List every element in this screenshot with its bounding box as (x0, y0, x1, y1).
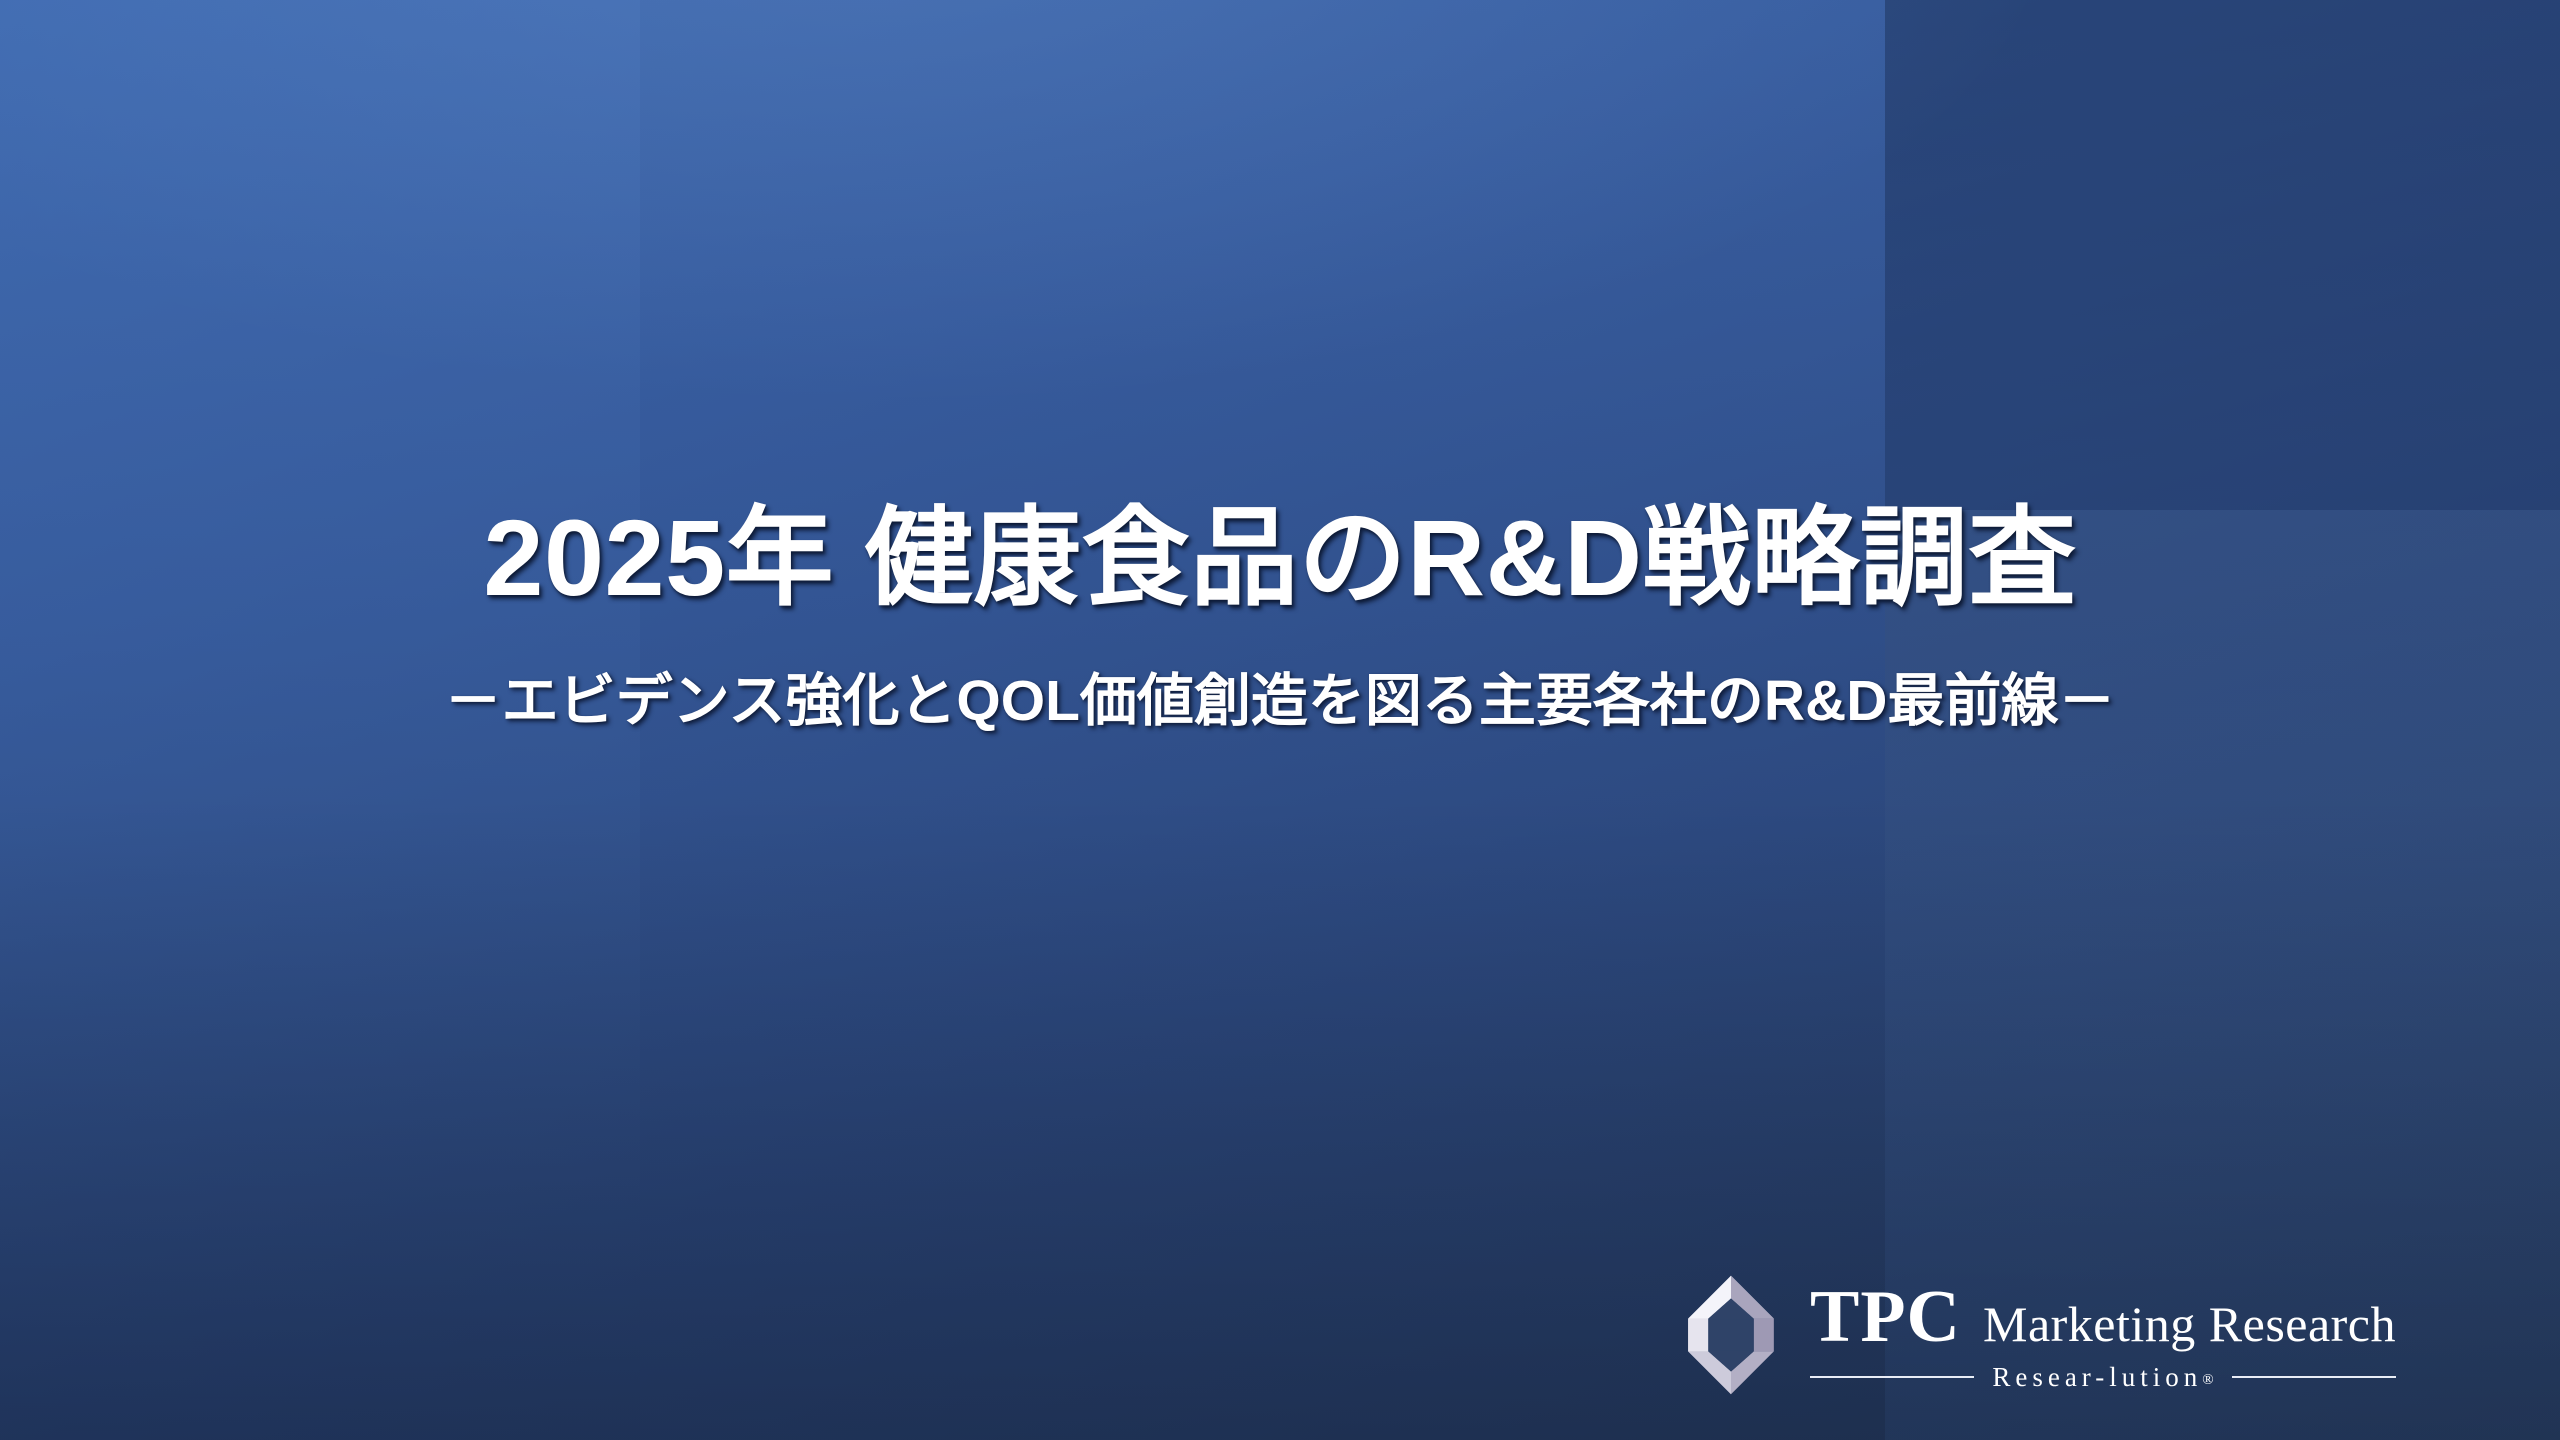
tpc-diamond-logo-icon (1668, 1272, 1794, 1398)
registered-trademark-icon: ® (2202, 1372, 2213, 1388)
logo-brand-tpc: TPC (1810, 1280, 1961, 1354)
logo-rule-left (1810, 1376, 1974, 1378)
logo-tagline: Resear-lution® (1974, 1364, 2231, 1391)
logo-brand-row: TPC Marketing Research (1810, 1280, 2396, 1354)
logo-rule-right (2232, 1376, 2396, 1378)
tpc-logo: TPC Marketing Research Resear-lution® (1668, 1272, 2396, 1398)
page-subtitle: －エビデンス強化とQOL価値創造を図る主要各社のR&D最前線－ (0, 667, 2560, 735)
logo-wordmark: TPC Marketing Research Resear-lution® (1810, 1280, 2396, 1391)
title-slide: 2025年 健康食品のR&D戦略調査 －エビデンス強化とQOL価値創造を図る主要… (0, 0, 2560, 1440)
page-title: 2025年 健康食品のR&D戦略調査 (0, 498, 2560, 619)
title-block: 2025年 健康食品のR&D戦略調査 －エビデンス強化とQOL価値創造を図る主要… (0, 498, 2560, 735)
logo-tagline-text: Resear-lution (1992, 1362, 2202, 1392)
logo-brand-suffix: Marketing Research (1983, 1299, 2396, 1349)
logo-tagline-row: Resear-lution® (1810, 1364, 2396, 1391)
